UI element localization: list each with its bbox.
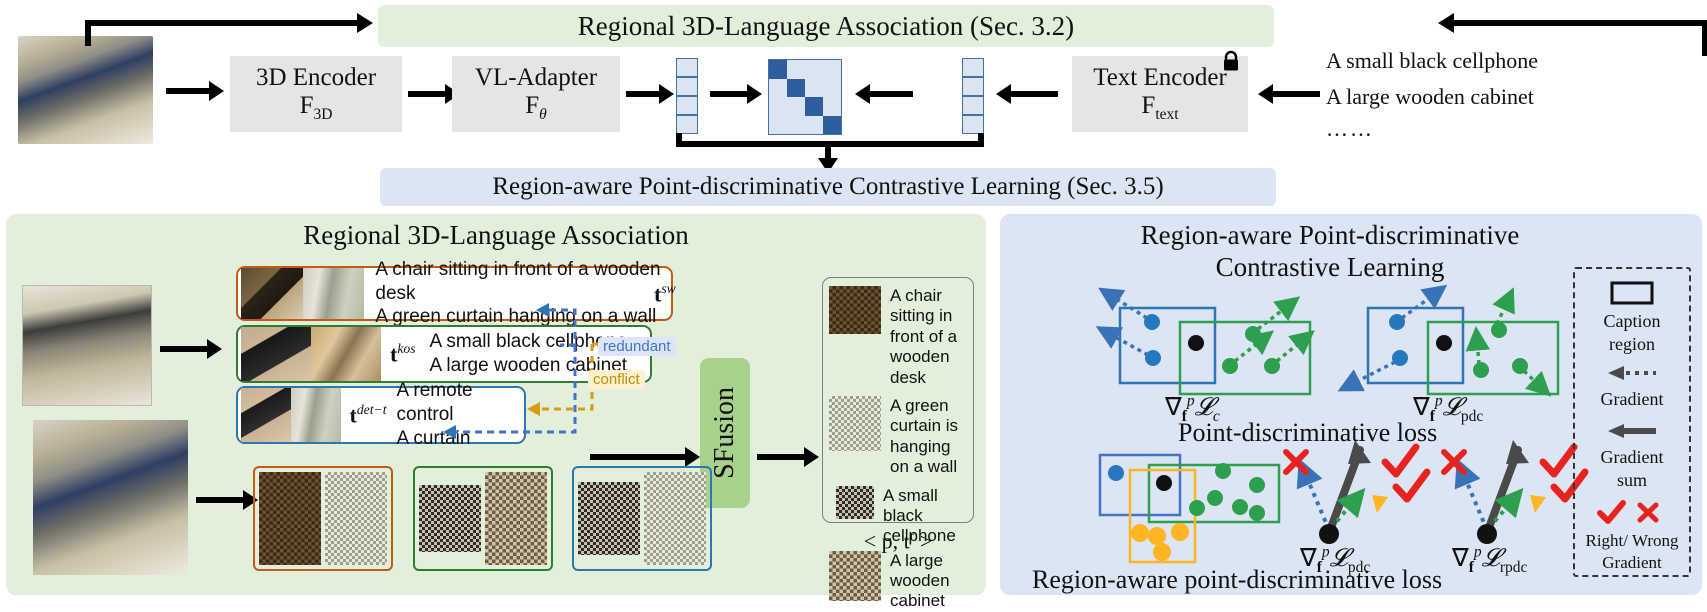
contrastive-panel-title-line1: Region-aware Point-discriminative	[1000, 220, 1660, 251]
result-text: A large wooden cabinet	[881, 551, 967, 612]
top-banner-regional-association: Regional 3D-Language Association (Sec. 3…	[378, 5, 1274, 47]
vl-adapter-label: VL-Adapter	[475, 64, 597, 93]
scene-to-patches-arrow	[196, 488, 258, 512]
caption-row-thumbs	[238, 324, 384, 384]
legend-label: Gradient	[1575, 390, 1689, 410]
caption-row-thumbs	[238, 385, 344, 445]
scene-to-captions-arrow	[160, 337, 222, 361]
point-discriminative-loss-caption: Point-discriminative loss	[1178, 418, 1437, 448]
legend-item-gradient: Gradient	[1575, 364, 1689, 410]
fused-results-box: A chair sitting in front of a wooden des…	[822, 277, 974, 523]
lock-icon	[1220, 50, 1242, 72]
legend-label: Gradient	[1575, 448, 1689, 468]
annotation-redundant: redundant	[598, 337, 676, 356]
caption-row-text: A chair sitting in front of a wooden des…	[367, 258, 671, 329]
result-text: A chair sitting in front of a wooden des…	[881, 286, 967, 388]
region-aware-loss-caption: Region-aware point-discriminative loss	[1032, 565, 1442, 595]
sfusion-to-results-arrow	[757, 445, 819, 469]
caption-row-text: A remote control A curtain	[393, 379, 525, 450]
legend-item-caption-region: Caption region	[1575, 280, 1689, 354]
result-pair-caption: < p, tr >	[822, 528, 974, 554]
vl-adapter-box: VL-Adapter Fθ	[452, 56, 620, 132]
patch-curtain	[644, 472, 706, 565]
result-thumb-cellphone	[836, 486, 874, 519]
annotation-conflict: conflict	[588, 370, 645, 389]
legend-label: Gradient	[1575, 554, 1689, 573]
legend-item-right-wrong: Right/ Wrong Gradient	[1575, 500, 1689, 572]
caption-row-thumbs	[238, 265, 367, 322]
result-row: A large wooden cabinet	[829, 551, 967, 612]
result-thumb-chair	[829, 286, 881, 334]
regional-association-panel-title: Regional 3D-Language Association	[6, 220, 986, 251]
point-feature-tokens	[676, 58, 698, 134]
caption-line: A chair sitting in front of a wooden des…	[375, 258, 671, 306]
panel-scene-thumbnail-top	[22, 285, 152, 406]
vl-adapter-symbol: Fθ	[525, 92, 547, 124]
3d-encoder-box: 3D Encoder F3D	[230, 56, 402, 132]
caption-line: A remote control	[397, 379, 525, 427]
scene-to-encoder-arrow	[166, 78, 224, 104]
captions-to-banner-arrow	[1438, 20, 1707, 56]
gradient-label-lrpdc: ∇fp𝓛rpdc	[1452, 543, 1527, 577]
caption-row-sw-tag: tsw	[648, 281, 682, 307]
scene-to-banner-arrow	[85, 20, 375, 46]
captions-to-encoder-arrow	[1258, 81, 1320, 107]
caption-line: A curtain	[397, 427, 525, 451]
result-row: A chair sitting in front of a wooden des…	[829, 286, 967, 388]
result-thumb-cabinet	[829, 551, 881, 601]
patch-curtain	[325, 472, 387, 565]
patch-cellphone	[419, 485, 481, 552]
text-encoder-symbol: Ftext	[1141, 92, 1178, 124]
legend-item-gradient-sum: Gradient sum	[1575, 422, 1689, 490]
text-encoder-label: Text Encoder	[1093, 64, 1227, 93]
caption-row-kos-tag: tkos	[384, 341, 422, 367]
thumb-cabinet	[311, 327, 381, 381]
thumb-curtain	[303, 268, 365, 319]
check-cross-icon	[1592, 500, 1672, 524]
panel-scene-thumbnail-bottom	[33, 420, 188, 575]
patch-group-kos	[413, 466, 553, 571]
legend-label: region	[1575, 335, 1689, 355]
top-banner-contrastive-learning: Region-aware Point-discriminative Contra…	[380, 168, 1276, 206]
thumb-curtain	[291, 388, 341, 442]
input-caption-list: A small black cellphone A large wooden c…	[1326, 50, 1556, 140]
input-scene-thumbnail	[18, 36, 153, 144]
legend-label: Caption	[1575, 312, 1689, 332]
text-feature-tokens	[962, 58, 984, 134]
caption-item: A large wooden cabinet	[1326, 86, 1556, 108]
caption-row-dett: tdet−t A remote control A curtain	[236, 386, 526, 444]
rectangle-icon	[1609, 280, 1655, 306]
dashed-arrow-icon	[1604, 364, 1660, 382]
tokens-to-matrix-arrow	[710, 81, 762, 107]
result-thumb-curtain	[829, 396, 881, 451]
patch-group-dett	[572, 466, 712, 571]
3d-encoder-label: 3D Encoder	[256, 64, 376, 93]
legend-label: Right/ Wrong	[1575, 532, 1689, 551]
patch-group-sw	[253, 466, 393, 571]
legend-box: Caption region Gradient Gradient sum Rig…	[1573, 267, 1691, 577]
patch-cabinet	[485, 472, 547, 565]
sfusion-label: SFusion	[709, 387, 741, 479]
patch-desk	[259, 472, 321, 565]
legend-label: sum	[1575, 471, 1689, 491]
similarity-matrix	[768, 59, 842, 135]
adapter-to-tokens-arrow	[626, 81, 674, 107]
caption-row-sw: A chair sitting in front of a wooden des…	[236, 266, 673, 321]
result-text: A green curtain is hanging on a wall	[881, 396, 967, 478]
caption-item: ……	[1326, 118, 1556, 140]
encoder-to-text-tokens-arrow	[996, 81, 1058, 107]
text-tokens-to-matrix-arrow	[855, 81, 913, 107]
thumb-cellphone	[241, 327, 311, 381]
solid-arrow-icon	[1604, 422, 1660, 440]
result-row: A green curtain is hanging on a wall	[829, 396, 967, 478]
contrastive-panel-title-line2: Contrastive Learning	[1000, 252, 1660, 283]
thumb-remote	[241, 388, 291, 442]
3d-encoder-symbol: F3D	[300, 92, 333, 124]
thumb-desk	[241, 268, 303, 319]
caption-row-dett-tag: tdet−t	[344, 402, 393, 428]
patch-remote	[578, 482, 640, 555]
